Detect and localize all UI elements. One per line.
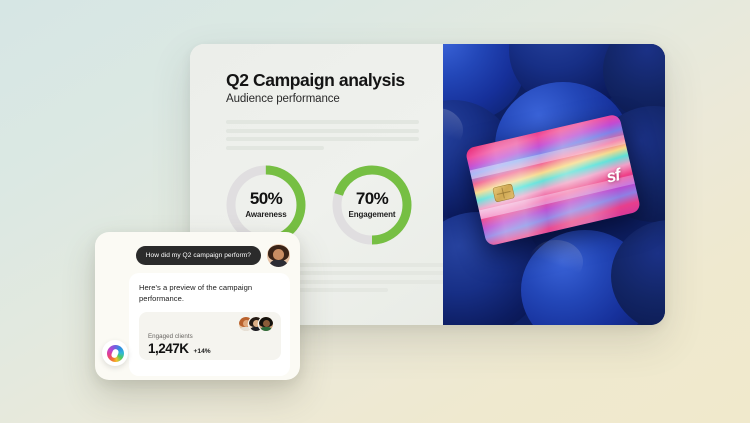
assistant-response-panel: Here's a preview of the campaign perform… — [129, 273, 290, 376]
ai-assistant-orb-icon[interactable] — [102, 340, 128, 366]
donut-chart-engagement[interactable]: 70% Engagement — [328, 161, 416, 249]
skeleton-line — [226, 129, 419, 133]
skeleton-line — [226, 137, 419, 141]
assistant-message-text: Here's a preview of the campaign perform… — [139, 282, 281, 304]
user-message-bubble: How did my Q2 campaign perform? — [136, 246, 261, 265]
product-photo-pane: sf — [443, 44, 665, 325]
user-message-row: How did my Q2 campaign perform? — [105, 244, 290, 267]
client-avatar — [259, 317, 273, 331]
page-subtitle: Audience performance — [226, 93, 419, 105]
skeleton-line — [226, 120, 419, 124]
skeleton-text-block-top — [226, 120, 419, 150]
stat-value-row: 1,247K +14% — [148, 341, 272, 356]
client-avatar-stack — [239, 317, 273, 331]
page-title: Q2 Campaign analysis — [226, 70, 419, 90]
skeleton-text-block-bottom — [290, 263, 419, 293]
screenshot-canvas: Q2 Campaign analysis Audience performanc… — [0, 0, 750, 423]
donut-engagement-svg — [328, 161, 416, 249]
chat-assistant-card[interactable]: How did my Q2 campaign perform? Here's a… — [95, 232, 300, 380]
stat-value: 1,247K — [148, 341, 189, 356]
user-avatar — [267, 244, 290, 267]
engaged-clients-stat-card[interactable]: Engaged clients 1,247K +14% — [139, 312, 281, 360]
skeleton-line — [290, 288, 388, 292]
stat-label: Engaged clients — [148, 333, 272, 340]
stat-delta-badge: +14% — [194, 348, 211, 355]
skeleton-line — [226, 146, 324, 150]
ai-assistant-orb-gradient — [107, 345, 124, 362]
